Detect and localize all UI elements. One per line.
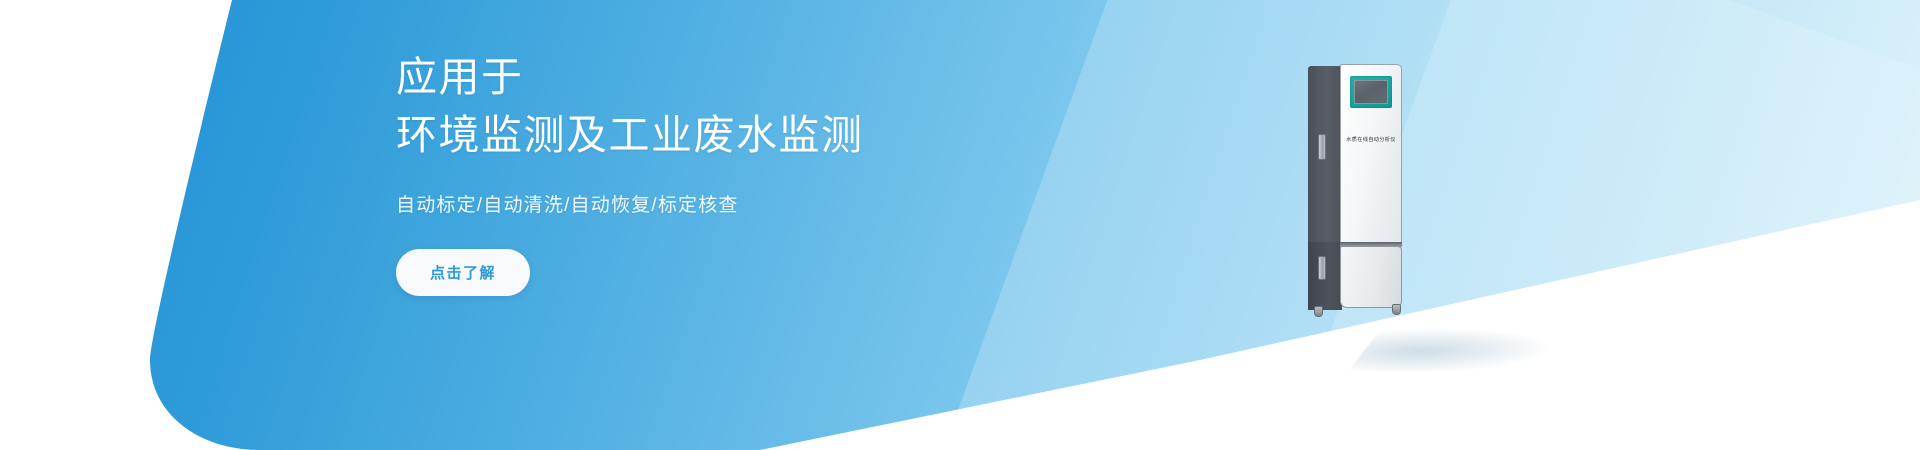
- door-handle-icon-upper: [1318, 134, 1326, 160]
- caster-wheel-icon-right: [1392, 304, 1401, 315]
- background-left-white-margin: [0, 0, 430, 450]
- subheadline: 自动标定/自动清洗/自动恢复/标定核查: [396, 190, 1156, 217]
- hero-banner: 应用于 环境监测及工业废水监测 自动标定/自动清洗/自动恢复/标定核查 点击了解…: [0, 0, 1920, 450]
- headline-line-1: 应用于: [396, 48, 1156, 106]
- device-lower-cabinet: [1340, 246, 1402, 308]
- product-drop-shadow: [1346, 328, 1572, 374]
- device-screen-glass: [1354, 80, 1388, 104]
- caster-wheel-icon-left: [1314, 306, 1323, 317]
- banner-copy-block: 应用于 环境监测及工业废水监测 自动标定/自动清洗/自动恢复/标定核查 点击了解: [396, 48, 1156, 296]
- door-handle-icon-lower: [1318, 256, 1326, 280]
- headline-line-2: 环境监测及工业废水监测: [396, 106, 1156, 164]
- display-screen-icon: [1350, 76, 1392, 108]
- learn-more-button[interactable]: 点击了解: [396, 249, 530, 296]
- product-image-water-quality-analyzer: 水质在线自动分析仪: [1300, 60, 1480, 380]
- product-label: 水质在线自动分析仪: [1340, 136, 1402, 143]
